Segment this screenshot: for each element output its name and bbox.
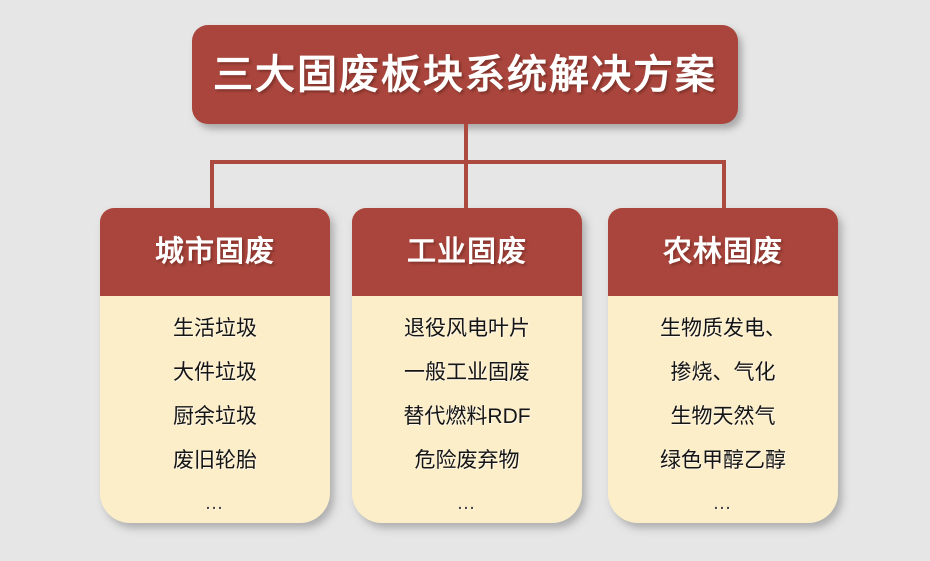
diagram-title-box: 三大固废板块系统解决方案 (192, 25, 738, 124)
list-item-ellipsis: … (205, 494, 226, 513)
connector-drop-left (210, 160, 214, 210)
card-header-text-municipal: 城市固废 (155, 238, 275, 267)
card-header-text-industrial: 工业固废 (407, 238, 527, 267)
list-item: 生活垃圾 (173, 318, 257, 339)
card-agricultural-forestry-solid-waste: 农林固废 生物质发电、 掺烧、气化 生物天然气 绿色甲醇乙醇 … (608, 208, 838, 523)
card-body-agroforestry: 生物质发电、 掺烧、气化 生物天然气 绿色甲醇乙醇 … (608, 296, 838, 523)
list-item-ellipsis: … (457, 494, 478, 513)
list-item: 掺烧、气化 (671, 362, 776, 383)
list-item-ellipsis: … (713, 494, 734, 513)
card-municipal-solid-waste: 城市固废 生活垃圾 大件垃圾 厨余垃圾 废旧轮胎 … (100, 208, 330, 523)
solid-waste-solution-diagram: 三大固废板块系统解决方案 城市固废 生活垃圾 大件垃圾 厨余垃圾 废旧轮胎 … … (0, 0, 930, 561)
connector-horizontal-rail (210, 160, 726, 164)
card-body-municipal: 生活垃圾 大件垃圾 厨余垃圾 废旧轮胎 … (100, 296, 330, 523)
list-item: 退役风电叶片 (404, 318, 530, 339)
card-header-text-agroforestry: 农林固废 (663, 238, 783, 267)
card-header-municipal: 城市固废 (100, 208, 330, 296)
list-item: 生物质发电、 (660, 318, 786, 339)
card-header-industrial: 工业固废 (352, 208, 582, 296)
connector-drop-middle (464, 160, 468, 210)
card-header-agroforestry: 农林固废 (608, 208, 838, 296)
list-item: 大件垃圾 (173, 362, 257, 383)
card-body-industrial: 退役风电叶片 一般工业固废 替代燃料RDF 危险废弃物 … (352, 296, 582, 523)
connector-drop-right (722, 160, 726, 210)
diagram-title-text: 三大固废板块系统解决方案 (213, 55, 717, 95)
list-item: 危险废弃物 (415, 450, 520, 471)
list-item: 厨余垃圾 (173, 406, 257, 427)
list-item: 废旧轮胎 (173, 450, 257, 471)
connector-stem-vertical (464, 124, 468, 164)
list-item: 生物天然气 (671, 406, 776, 427)
list-item: 一般工业固废 (404, 362, 530, 383)
list-item: 绿色甲醇乙醇 (660, 450, 786, 471)
list-item: 替代燃料RDF (403, 406, 530, 427)
card-industrial-solid-waste: 工业固废 退役风电叶片 一般工业固废 替代燃料RDF 危险废弃物 … (352, 208, 582, 523)
